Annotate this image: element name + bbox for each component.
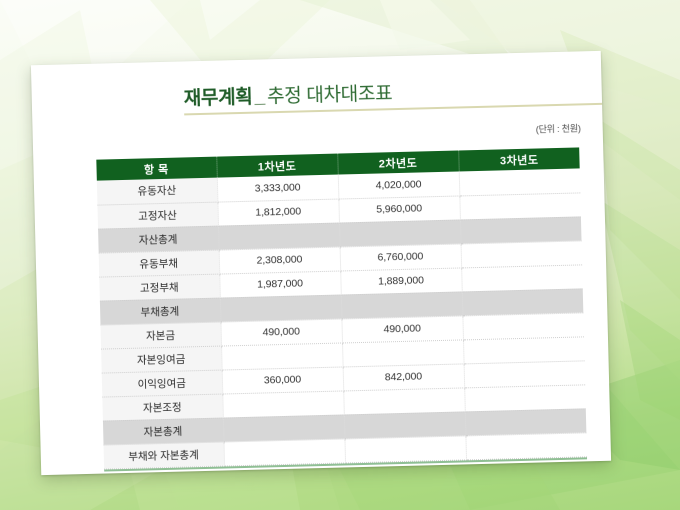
row-value-year1 [220, 295, 342, 322]
row-value-year3 [465, 432, 587, 459]
row-value-year2 [344, 435, 466, 462]
row-label: 유동부채 [99, 250, 220, 277]
row-value-year3 [460, 216, 582, 243]
row-value-year3 [459, 192, 581, 219]
row-value-year1: 1,987,000 [219, 271, 341, 298]
row-label: 이익잉여금 [102, 370, 223, 397]
row-value-year2 [342, 339, 464, 366]
row-value-year2: 490,000 [341, 315, 463, 342]
row-value-year2 [339, 219, 461, 246]
balance-sheet-table: 항 목 1차년도 2차년도 3차년도 유동자산3,333,0004,020,00… [96, 147, 587, 469]
row-value-year2: 4,020,000 [338, 171, 460, 198]
row-value-year2: 5,960,000 [338, 195, 460, 222]
row-value-year3 [464, 360, 586, 387]
row-value-year1: 2,308,000 [219, 247, 341, 274]
row-label: 고정부채 [99, 274, 220, 301]
column-header-item: 항 목 [96, 157, 216, 181]
row-value-year1 [223, 438, 345, 465]
row-value-year3 [459, 168, 581, 195]
slide-card: 재무계획_추정 대차대조표 (단위 : 천원) 항 목 1차년도 2차년도 3차… [31, 51, 611, 475]
row-value-year1: 490,000 [220, 319, 342, 346]
row-value-year1: 1,812,000 [217, 199, 339, 226]
row-value-year3 [461, 240, 583, 267]
page-title-separator: _ [252, 86, 267, 107]
row-value-year1 [223, 414, 345, 441]
row-value-year2 [343, 387, 465, 414]
row-label: 자본잉여금 [101, 346, 222, 373]
page-title: 재무계획_추정 대차대조표 [183, 78, 392, 110]
row-value-year1: 3,333,000 [217, 175, 339, 202]
row-value-year2: 842,000 [343, 363, 465, 390]
row-label: 유동자산 [97, 178, 218, 205]
row-value-year3 [461, 264, 583, 291]
row-value-year1: 360,000 [222, 366, 344, 393]
row-value-year2: 6,760,000 [340, 243, 462, 270]
page-title-primary: 재무계획 [184, 87, 253, 110]
row-label: 자산총계 [98, 226, 219, 253]
row-value-year3 [465, 408, 587, 435]
table-body: 유동자산3,333,0004,020,000고정자산1,812,0005,960… [97, 168, 587, 468]
row-label: 부채와 자본총계 [104, 442, 225, 469]
row-label: 자본조정 [102, 394, 223, 421]
row-value-year1 [221, 342, 343, 369]
row-value-year3 [462, 312, 584, 339]
row-label: 자본금 [100, 322, 221, 349]
row-label: 고정자산 [97, 202, 218, 229]
row-value-year3 [464, 384, 586, 411]
row-value-year2 [341, 291, 463, 318]
row-value-year1 [218, 223, 340, 250]
row-value-year1 [222, 390, 344, 417]
page-title-secondary: 추정 대차대조표 [267, 83, 393, 107]
row-label: 부채총계 [100, 298, 221, 325]
unit-note: (단위 : 천원) [536, 121, 581, 135]
row-label: 자본총계 [103, 418, 224, 445]
slide-canvas: 재무계획_추정 대차대조표 (단위 : 천원) 항 목 1차년도 2차년도 3차… [0, 0, 680, 510]
row-value-year2 [344, 411, 466, 438]
row-value-year3 [462, 288, 584, 315]
row-value-year3 [463, 336, 585, 363]
balance-sheet-table-wrapper: 항 목 1차년도 2차년도 3차년도 유동자산3,333,0004,020,00… [96, 147, 587, 471]
row-value-year2: 1,889,000 [340, 267, 462, 294]
